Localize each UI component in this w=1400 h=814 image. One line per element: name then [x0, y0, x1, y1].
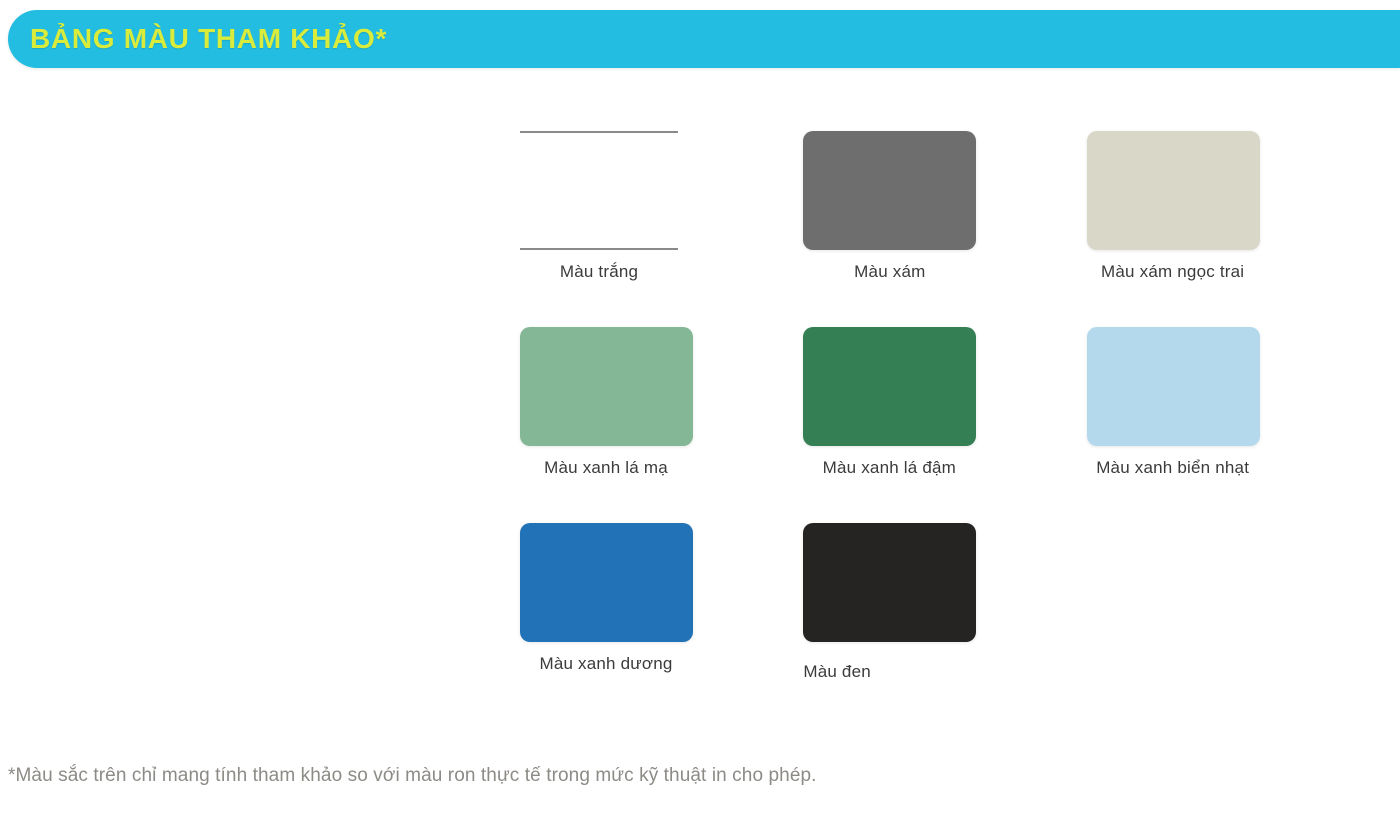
footnote-text: *Màu sắc trên chỉ mang tính tham khảo so… — [8, 765, 817, 787]
swatch-color-box-pearl-gray — [1087, 131, 1260, 250]
swatch-label: Màu xám ngọc trai — [1073, 262, 1273, 282]
swatch-color-box-light-green — [520, 327, 693, 446]
swatch-label: Màu đen — [803, 662, 976, 682]
swatch-color-box-gray — [803, 131, 976, 250]
swatch-item-light-green[interactable]: Màu xanh lá mạ — [520, 327, 803, 523]
swatch-cell-empty — [1087, 523, 1370, 719]
swatch-item-blue[interactable]: Màu xanh dương — [520, 523, 803, 719]
swatch-label: Màu xanh dương — [506, 654, 706, 674]
swatch-item-dark-green[interactable]: Màu xanh lá đậm — [803, 327, 1086, 523]
color-swatch-grid: Màu trắng Màu xám Màu xám ngọc trai Màu … — [520, 131, 1370, 719]
swatch-color-box-black — [803, 523, 976, 642]
swatch-label: Màu xám — [803, 262, 976, 282]
page-title: BẢNG MÀU THAM KHẢO* — [30, 23, 387, 55]
swatch-color-box-white — [520, 131, 678, 250]
swatch-item-pearl-gray[interactable]: Màu xám ngọc trai — [1087, 131, 1370, 327]
swatch-row: Màu xanh lá mạ Màu xanh lá đậm Màu xanh … — [520, 327, 1370, 523]
swatch-item-gray[interactable]: Màu xám — [803, 131, 1086, 327]
swatch-item-white[interactable]: Màu trắng — [520, 131, 803, 327]
swatch-label: Màu xanh lá đậm — [789, 458, 989, 478]
swatch-item-black[interactable]: Màu đen — [803, 523, 1086, 719]
swatch-color-box-blue — [520, 523, 693, 642]
swatch-label: Màu xanh lá mạ — [506, 458, 706, 478]
swatch-label: Màu trắng — [520, 262, 678, 282]
swatch-item-light-blue[interactable]: Màu xanh biển nhạt — [1087, 327, 1370, 523]
header-banner: BẢNG MÀU THAM KHẢO* — [8, 10, 1400, 68]
swatch-color-box-light-blue — [1087, 327, 1260, 446]
swatch-color-box-dark-green — [803, 327, 976, 446]
swatch-row: Màu trắng Màu xám Màu xám ngọc trai — [520, 131, 1370, 327]
swatch-row: Màu xanh dương Màu đen — [520, 523, 1370, 719]
swatch-label: Màu xanh biển nhạt — [1073, 458, 1273, 478]
